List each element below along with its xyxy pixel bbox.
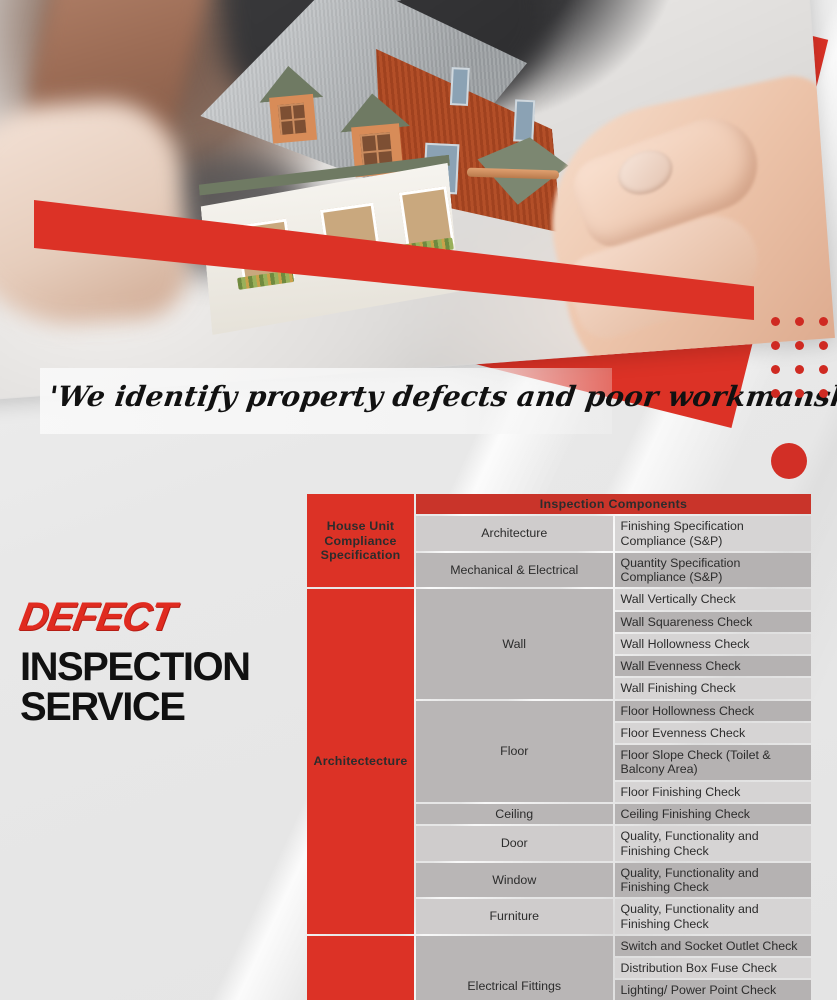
subcategory-cell: Ceiling bbox=[416, 804, 613, 824]
inspection-item-cell: Floor Evenness Check bbox=[615, 723, 812, 743]
dot bbox=[771, 389, 780, 398]
inspection-item-cell: Wall Finishing Check bbox=[615, 678, 812, 698]
inspection-item-cell: Floor Hollowness Check bbox=[615, 701, 812, 721]
headline-accent-word: DEFECT bbox=[16, 597, 177, 637]
inspection-item-cell: Switch and Socket Outlet Check bbox=[615, 936, 812, 956]
subcategory-cell: Door bbox=[416, 826, 613, 861]
tagline-text: 'We identify property defects and poor w… bbox=[45, 380, 632, 428]
table-row: Mechanical and ElectricalElectrical Fitt… bbox=[307, 936, 811, 956]
inspection-item-cell: Distribution Box Fuse Check bbox=[615, 958, 812, 978]
subcategory-cell: Wall bbox=[416, 589, 613, 698]
inspection-table-wrapper: House Unit Compliance SpecificationInspe… bbox=[305, 492, 813, 1000]
dot bbox=[771, 341, 780, 350]
dormer-window bbox=[278, 103, 307, 135]
large-red-circle-decoration bbox=[771, 443, 807, 479]
inspection-item-cell: Wall Squareness Check bbox=[615, 612, 812, 632]
dot bbox=[771, 365, 780, 374]
dot bbox=[795, 317, 804, 326]
inspection-item-cell: Quantity Specification Compliance (S&P) bbox=[615, 553, 812, 588]
inspection-item-cell: Finishing Specification Compliance (S&P) bbox=[615, 516, 812, 551]
inspection-item-cell: Floor Slope Check (Toilet & Balcony Area… bbox=[615, 745, 812, 780]
subcategory-cell: Architecture bbox=[416, 516, 613, 551]
poster-root: 'We identify property defects and poor w… bbox=[0, 0, 837, 1000]
category-cell: House Unit Compliance Specification bbox=[307, 494, 414, 587]
category-cell: Architectecture bbox=[307, 589, 414, 934]
inspection-item-cell: Wall Vertically Check bbox=[615, 589, 812, 609]
dot bbox=[819, 341, 828, 350]
inspection-item-cell: Floor Finishing Check bbox=[615, 782, 812, 802]
dot bbox=[795, 389, 804, 398]
house-dormer bbox=[262, 64, 320, 142]
subcategory-cell: Electrical Fittings bbox=[416, 936, 613, 1000]
house-window bbox=[450, 67, 470, 106]
dot bbox=[819, 365, 828, 374]
dot bbox=[795, 365, 804, 374]
dot bbox=[819, 389, 828, 398]
house-window bbox=[513, 99, 535, 142]
inspection-item-cell: Ceiling Finishing Check bbox=[615, 804, 812, 824]
subcategory-cell: Furniture bbox=[416, 899, 613, 934]
dot bbox=[795, 341, 804, 350]
headline-line-2: INSPECTION bbox=[20, 647, 300, 687]
inspection-item-cell: Wall Hollowness Check bbox=[615, 634, 812, 654]
subcategory-cell: Floor bbox=[416, 701, 613, 802]
inspection-table-body: House Unit Compliance SpecificationInspe… bbox=[307, 494, 811, 1000]
inspection-item-cell: Wall Evenness Check bbox=[615, 656, 812, 676]
inspection-item-cell: Quality, Functionality and Finishing Che… bbox=[615, 899, 812, 934]
headline-line-3: SERVICE bbox=[20, 687, 300, 727]
dot bbox=[771, 317, 780, 326]
inspection-table: House Unit Compliance SpecificationInspe… bbox=[305, 492, 813, 1000]
inspection-item-cell: Quality, Functionality and Finishing Che… bbox=[615, 863, 812, 898]
inspection-item-cell: Quality, Functionality and Finishing Che… bbox=[615, 826, 812, 861]
table-row: ArchitectectureWallWall Vertically Check bbox=[307, 589, 811, 609]
table-header-cell: Inspection Components bbox=[416, 494, 811, 514]
dot bbox=[819, 317, 828, 326]
category-cell: Mechanical and Electrical bbox=[307, 936, 414, 1000]
table-header-row: House Unit Compliance SpecificationInspe… bbox=[307, 494, 811, 514]
subcategory-cell: Window bbox=[416, 863, 613, 898]
inspection-item-cell: Lighting/ Power Point Check bbox=[615, 980, 812, 1000]
dot-grid-decoration bbox=[764, 310, 836, 406]
hero-photo-content bbox=[0, 0, 835, 401]
hero-photo bbox=[0, 0, 835, 401]
headline-block: DEFECT INSPECTION SERVICE bbox=[20, 597, 300, 727]
hero-section: 'We identify property defects and poor w… bbox=[0, 0, 837, 470]
subcategory-cell: Mechanical & Electrical bbox=[416, 553, 613, 588]
